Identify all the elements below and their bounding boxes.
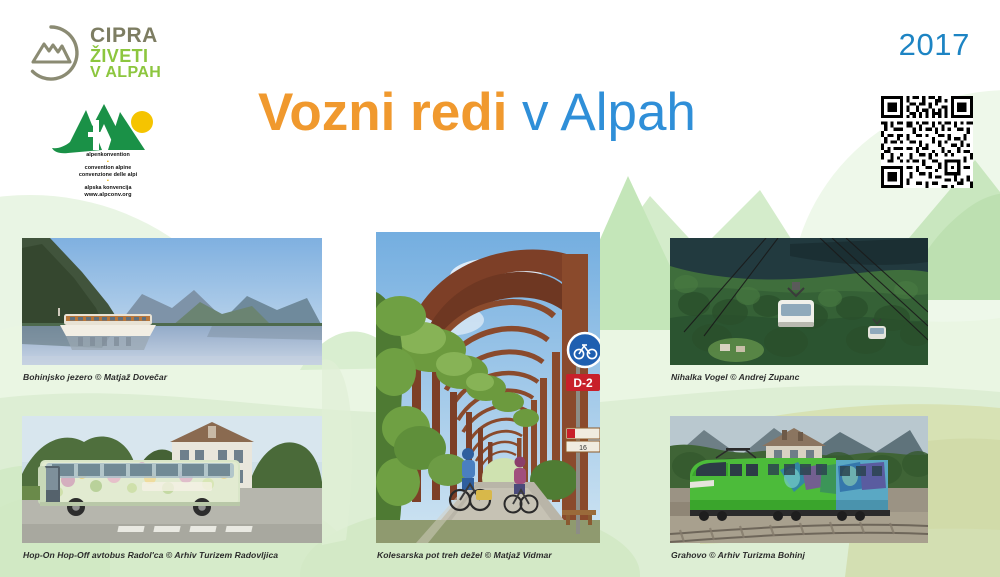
alpine-convention-logo: alpenkonvention▪convention alpine conven… — [28, 98, 188, 178]
hop-on-hop-off-bus-photo — [22, 416, 322, 543]
cipra-logo: CIPRA ŽIVETI V ALPAH — [22, 24, 182, 84]
alpconv-line-2: convenzione delle alpi▪alpska konvencija — [28, 172, 188, 192]
photo-caption: Grahovo © Arhiv Turizma Bohinj — [671, 550, 805, 560]
cipra-line-1: CIPRA — [90, 25, 161, 47]
page-title-secondary: v Alpah — [507, 83, 696, 142]
cyclists-in-arched-tunnel-photo: D-2 16 — [376, 232, 600, 543]
cipra-line-3: V ALPAH — [90, 65, 161, 81]
green-regional-train-photo — [670, 416, 928, 543]
red-route-sign-text: D-2 — [573, 376, 593, 390]
qr-code[interactable] — [881, 96, 973, 188]
poster-header: CIPRA ŽIVETI V ALPAH alpenkonvention▪con… — [0, 0, 1000, 190]
cipra-line-2: ŽIVETI — [90, 47, 161, 66]
alpine-convention-wordmark: alpenkonvention▪convention alpine conven… — [28, 152, 188, 198]
photo-cable — [670, 238, 928, 365]
mountain-in-circle-icon — [22, 24, 80, 82]
photo-train — [670, 416, 928, 543]
photo-caption: Bohinjsko jezero © Matjaž Dovečar — [23, 372, 167, 382]
photo-bus — [22, 416, 322, 543]
photo-caption: Nihalka Vogel © Andrej Zupanc — [671, 372, 799, 382]
svg-text:16: 16 — [579, 445, 587, 452]
page-title: Vozni redi v Alpah — [258, 86, 696, 139]
poster-canvas: CIPRA ŽIVETI V ALPAH alpenkonvention▪con… — [0, 0, 1000, 577]
lake-with-tourist-boat-photo — [22, 238, 322, 365]
photo-bike: D-2 16 — [376, 232, 600, 543]
photo-lake — [22, 238, 322, 365]
alpconv-line-1: alpenkonvention▪convention alpine — [28, 152, 188, 172]
cipra-logo-text: CIPRA ŽIVETI V ALPAH — [90, 25, 161, 82]
alpine-convention-mountains-icon — [46, 98, 174, 156]
qr-code-icon[interactable] — [881, 96, 973, 188]
page-title-primary: Vozni redi — [258, 83, 507, 142]
cable-car-over-forest-photo — [670, 238, 928, 365]
photo-caption: Hop-On Hop-Off avtobus Radol'ca © Arhiv … — [23, 550, 278, 560]
year-label: 2017 — [899, 27, 970, 63]
photo-caption: Kolesarska pot treh dežel © Matjaž Vidma… — [377, 550, 552, 560]
alpconv-url: www.alpconv.org — [28, 192, 188, 199]
